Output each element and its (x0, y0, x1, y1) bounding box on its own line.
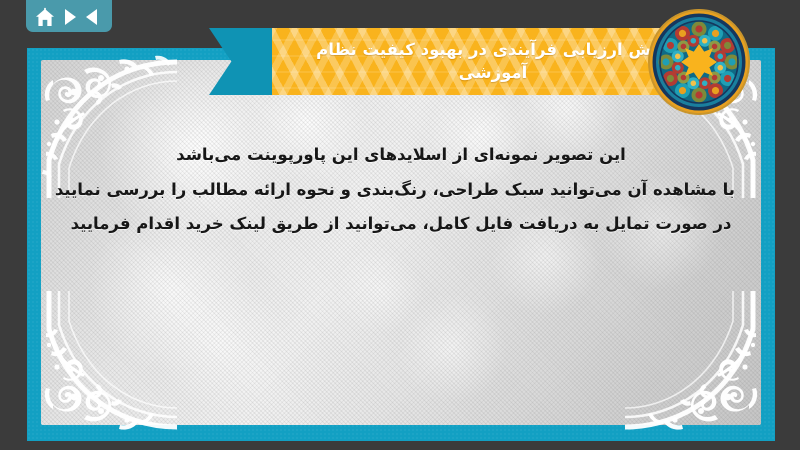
slide-body-text: این تصویر نمونه‌ای از اسلایدهای این پاور… (67, 138, 735, 242)
next-slide-button[interactable] (59, 7, 79, 27)
body-line-3: در صورت تمایل به دریافت فایل کامل، می‌تو… (67, 207, 735, 242)
slide-content-panel: این تصویر نمونه‌ای از اسلایدهای این پاور… (41, 60, 761, 425)
body-line-2: با مشاهده آن می‌توانید سبک طراحی، رنگ‌بن… (67, 173, 735, 208)
home-button[interactable] (35, 7, 55, 27)
slide-viewer: این تصویر نمونه‌ای از اسلایدهای این پاور… (0, 0, 800, 450)
slide-frame: این تصویر نمونه‌ای از اسلایدهای این پاور… (27, 48, 775, 441)
previous-slide-button[interactable] (83, 7, 103, 27)
body-line-1: این تصویر نمونه‌ای از اسلایدهای این پاور… (67, 138, 735, 173)
viewer-toolbar (26, 0, 112, 32)
